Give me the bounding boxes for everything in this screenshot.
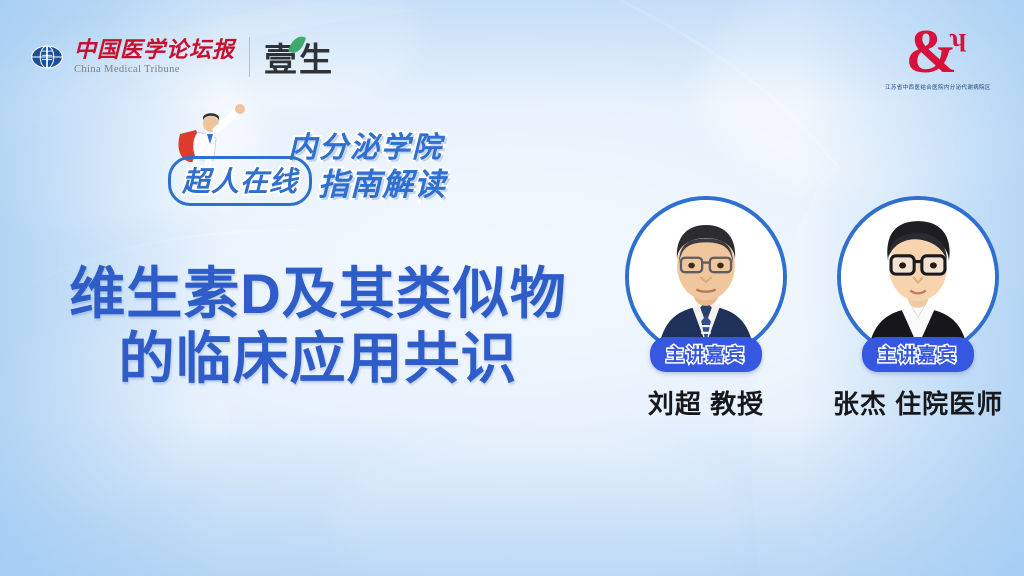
sub-brand: 壹生	[264, 33, 334, 81]
program-badge: 超人在线	[168, 156, 312, 206]
avatar: 主讲嘉宾	[625, 196, 787, 358]
page-title: 维生素D及其类似物 的临床应用共识	[48, 262, 588, 392]
speaker-card: 主讲嘉宾 刘超 教授	[608, 196, 804, 421]
page-title-line2: 的临床应用共识	[48, 327, 588, 392]
globe-emblem-icon	[30, 40, 64, 74]
speaker-portrait-icon	[629, 200, 783, 354]
avatar-ring	[837, 196, 999, 358]
ampersand-glyph: &	[906, 18, 956, 86]
title-card: 中国医学论坛报 China Medical Tribune 壹生 &ʮ 江苏省中…	[0, 0, 1024, 576]
page-title-line1: 维生素D及其类似物	[69, 262, 566, 325]
ampersand-logo-icon: &ʮ	[874, 24, 1002, 81]
status-badge: 主讲嘉宾	[650, 337, 762, 372]
brand-lockup: 中国医学论坛报 China Medical Tribune 壹生	[30, 33, 334, 81]
brand-cn-name: 中国医学论坛报	[74, 39, 235, 61]
speaker-portrait-icon	[841, 200, 995, 354]
speaker-list: 主讲嘉宾 刘超 教授	[600, 196, 1024, 421]
speaker-role-label: 主讲嘉宾	[878, 345, 958, 365]
program-sub-title: 指南解读	[318, 159, 446, 204]
program-badge-label: 超人在线	[182, 166, 298, 197]
brand-divider	[249, 37, 250, 77]
hospital-logo: &ʮ 江苏省中西医结合医院内分泌代谢病院区	[874, 24, 1002, 91]
speaker-name: 张杰 住院医师	[833, 384, 1003, 421]
brand-text: 中国医学论坛报 China Medical Tribune	[74, 39, 235, 76]
speaker-role-label: 主讲嘉宾	[666, 345, 746, 365]
hospital-name: 江苏省中西医结合医院内分泌代谢病院区	[871, 84, 1005, 91]
speaker-card: 主讲嘉宾 张杰 住院医师	[820, 196, 1016, 421]
avatar-ring	[625, 196, 787, 358]
avatar: 主讲嘉宾	[837, 196, 999, 358]
program-branding: 内分泌学院 超人在线 指南解读	[168, 108, 498, 208]
cloud-decoration	[330, 430, 750, 576]
brand-en-name: China Medical Tribune	[74, 65, 235, 76]
status-badge: 主讲嘉宾	[862, 337, 974, 372]
speaker-name: 刘超 教授	[648, 384, 764, 421]
ampersand-accent-icon: ʮ	[949, 26, 964, 50]
program-badge-row: 超人在线 指南解读	[168, 156, 446, 206]
